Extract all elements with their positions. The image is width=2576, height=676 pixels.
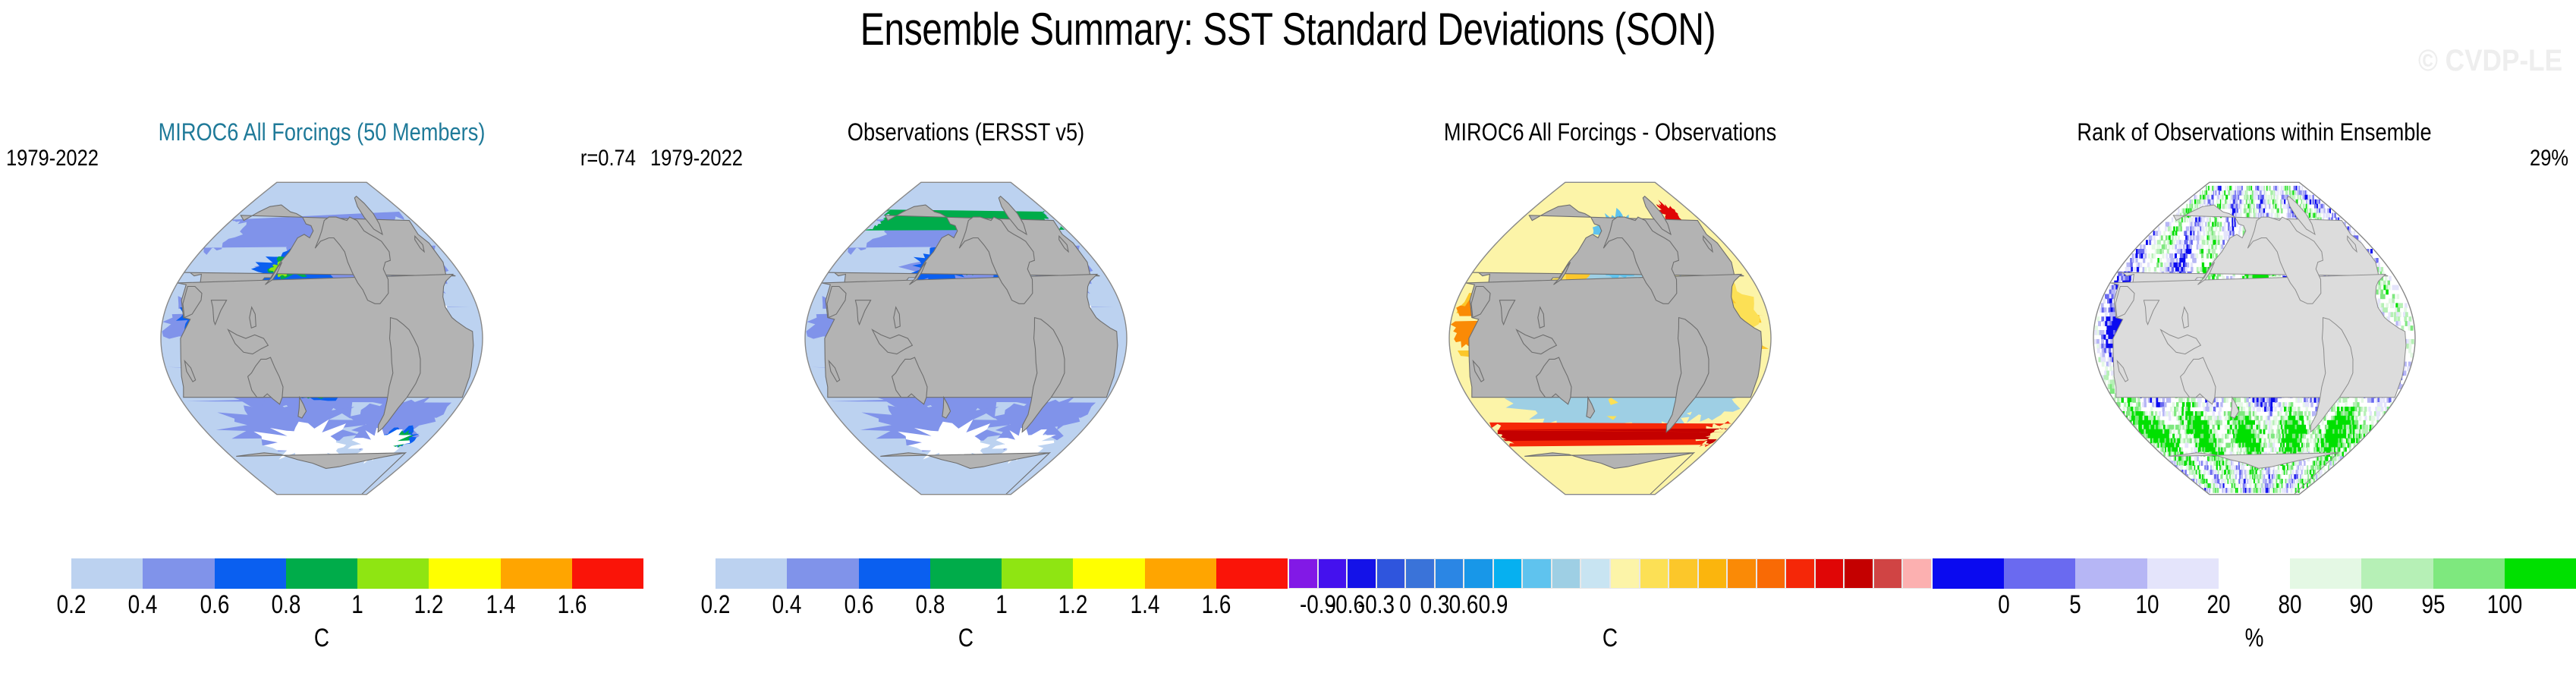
cvdp-watermark: © CVDP-LE	[2418, 44, 2562, 78]
colorbar-group: 0.20.40.60.811.21.41.6 C	[0, 558, 643, 672]
colorbar-swatch	[1405, 558, 1435, 589]
colorbar-swatch	[1640, 558, 1669, 589]
colorbar-swatch	[1785, 558, 1815, 589]
colorbar-tick: 1.2	[414, 590, 444, 620]
colorbar-swatch	[1376, 558, 1406, 589]
panel-title: MIROC6 All Forcings - Observations	[1337, 118, 1884, 146]
colorbar-swatch	[1216, 558, 1288, 589]
colorbar-tick: 0.9	[1478, 590, 1508, 620]
colorbar-swatch	[215, 558, 286, 589]
colorbar-swatch	[930, 558, 1002, 589]
colorbar-swatch	[1288, 558, 1318, 589]
colorbar-swatch	[1902, 558, 1932, 589]
map-sst-difference[interactable]	[1288, 149, 1932, 528]
colorbar-tick: 5	[2070, 590, 2082, 620]
colorbar-tick: -0.3	[1358, 590, 1395, 620]
colorbar-tick: 1.4	[486, 590, 515, 620]
colorbar-swatch	[2290, 558, 2361, 589]
colorbar-tick: 95	[2421, 590, 2445, 620]
colorbar-swatch	[2361, 558, 2433, 589]
colorbar-swatch	[787, 558, 858, 589]
colorbar-swatch	[2219, 558, 2290, 589]
colorbar-tick: 0.2	[57, 590, 86, 620]
colorbar-swatch	[644, 558, 716, 589]
colorbar-tick: 1	[351, 590, 363, 620]
colorbar-swatch	[1435, 558, 1464, 589]
colorbar-swatch	[0, 558, 71, 589]
colorbar-swatch	[859, 558, 930, 589]
panel-observations-ersst[interactable]: Observations (ERSST v5) 1979-2022 0.20.4…	[644, 106, 1288, 676]
colorbar-unit: C	[58, 624, 585, 653]
colorbar-tick: 0.4	[128, 590, 158, 620]
figure-root: Ensemble Summary: SST Standard Deviation…	[0, 0, 2576, 676]
colorbar-swatch	[1844, 558, 1873, 589]
colorbar-swatch	[357, 558, 429, 589]
map-svg	[1288, 149, 1932, 528]
colorbar-swatch	[1145, 558, 1216, 589]
colorbar-tick: 0.3	[1420, 590, 1449, 620]
colorbar-swatch	[1873, 558, 1903, 589]
colorbar-swatch	[572, 558, 643, 589]
colorbar-tick: 90	[2350, 590, 2373, 620]
colorbar-swatch	[2433, 558, 2505, 589]
panel-title: Observations (ERSST v5)	[693, 118, 1240, 146]
colorbar-swatch	[1002, 558, 1073, 589]
map-rank-of-observations[interactable]	[1933, 149, 2576, 528]
panel-title: MIROC6 All Forcings (50 Members)	[49, 118, 596, 146]
colorbar-tick: 1.2	[1058, 590, 1088, 620]
colorbar-swatch	[1347, 558, 1376, 589]
colorbar-swatch	[1933, 558, 2004, 589]
map-sst-stddev-model[interactable]	[0, 149, 643, 528]
colorbar-swatch	[1552, 558, 1581, 589]
colorbar-swatch	[1757, 558, 1786, 589]
colorbar-group: 051020809095100 %	[1933, 558, 2576, 672]
colorbar-ticks: 051020809095100	[1933, 590, 2576, 625]
colorbar-swatch	[716, 558, 787, 589]
map-sst-stddev-obs[interactable]	[644, 149, 1288, 528]
colorbar-swatch	[1815, 558, 1845, 589]
colorbar-tick: 0.8	[271, 590, 300, 620]
colorbar-swatch	[286, 558, 357, 589]
colorbar-unit: C	[702, 624, 1229, 653]
colorbar-swatch	[2075, 558, 2147, 589]
colorbar-swatch	[143, 558, 214, 589]
colorbar-tick: 0.8	[915, 590, 945, 620]
colorbar-swatch	[501, 558, 572, 589]
colorbar-tick: 1.6	[1201, 590, 1231, 620]
colorbar-group: -0.9-0.6-0.300.30.60.9 C	[1288, 558, 1932, 672]
colorbar-swatch	[2004, 558, 2075, 589]
colorbar-tick: 80	[2279, 590, 2302, 620]
colorbar-swatch	[2505, 558, 2576, 589]
colorbar-tick: 1	[995, 590, 1008, 620]
colorbar-tick: 0.4	[772, 590, 802, 620]
colorbar-swatch	[2147, 558, 2219, 589]
colorbar-swatch	[429, 558, 500, 589]
colorbar-swatches[interactable]	[1288, 558, 1932, 589]
colorbar-unit: %	[1990, 624, 2518, 653]
colorbar-swatches[interactable]	[1933, 558, 2576, 589]
colorbar-swatches[interactable]	[644, 558, 1288, 589]
colorbar-tick: 20	[2206, 590, 2230, 620]
colorbar-ticks: 0.20.40.60.811.21.41.6	[644, 590, 1288, 625]
colorbar-swatch	[1669, 558, 1698, 589]
colorbar-swatch	[1464, 558, 1493, 589]
colorbar-swatch	[1727, 558, 1757, 589]
panel-rank-of-observations[interactable]: Rank of Observations within Ensemble 29%…	[1933, 106, 2576, 676]
colorbar-swatch	[71, 558, 143, 589]
colorbar-tick: 0.2	[701, 590, 731, 620]
colorbar-tick: 1.6	[557, 590, 587, 620]
colorbar-unit: C	[1346, 624, 1873, 653]
colorbar-group: 0.20.40.60.811.21.41.6 C	[644, 558, 1288, 672]
colorbar-tick: 0.6	[200, 590, 229, 620]
colorbar-tick: 0	[1998, 590, 2010, 620]
colorbar-swatches[interactable]	[0, 558, 643, 589]
map-svg	[0, 149, 643, 528]
colorbar-tick: 0	[1399, 590, 1411, 620]
panel-miroc6-all-forcings[interactable]: MIROC6 All Forcings (50 Members) 1979-20…	[0, 106, 643, 676]
colorbar-tick: 0.6	[1449, 590, 1479, 620]
colorbar-swatch	[1610, 558, 1640, 589]
page-title: Ensemble Summary: SST Standard Deviation…	[258, 3, 2319, 55]
colorbar-swatch	[1318, 558, 1348, 589]
colorbar-tick: 100	[2487, 590, 2523, 620]
colorbar-swatch	[1073, 558, 1144, 589]
colorbar-tick: 0.6	[844, 590, 873, 620]
colorbar-swatch	[1522, 558, 1552, 589]
panel-model-minus-observations[interactable]: MIROC6 All Forcings - Observations -0.9-…	[1288, 106, 1932, 676]
panel-title: Rank of Observations within Ensemble	[1981, 118, 2528, 146]
colorbar-tick: 1.4	[1130, 590, 1159, 620]
colorbar-swatch	[1493, 558, 1523, 589]
colorbar-ticks: 0.20.40.60.811.21.41.6	[0, 590, 643, 625]
colorbar-ticks: -0.9-0.6-0.300.30.60.9	[1288, 590, 1932, 625]
colorbar-swatch	[1581, 558, 1610, 589]
map-svg	[644, 149, 1288, 528]
colorbar-tick: 10	[2135, 590, 2159, 620]
colorbar-swatch	[1698, 558, 1728, 589]
map-svg	[1933, 149, 2576, 528]
